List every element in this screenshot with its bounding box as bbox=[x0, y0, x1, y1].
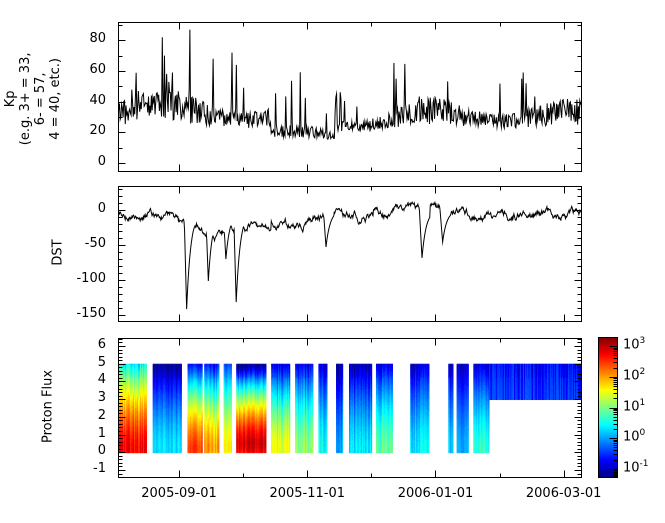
kp-plot-area bbox=[118, 22, 582, 172]
proton-axis-label: Proton Flux bbox=[41, 337, 56, 477]
xtick-label-1: 2005-11-01 bbox=[247, 486, 367, 501]
kp-axis-label: Kp (e.g. 3+ = 33, 6- = 57, 4 = 40, etc.) bbox=[4, 24, 64, 174]
colorbar-tick-2: 101 bbox=[623, 398, 645, 414]
proton-flux-plot-area bbox=[118, 338, 582, 478]
dst-plot-area bbox=[118, 186, 582, 322]
colorbar bbox=[598, 337, 618, 478]
colorbar-tick-4: 103 bbox=[623, 336, 645, 352]
colorbar-tick-0: 10-1 bbox=[623, 459, 649, 475]
xtick-label-2: 2006-01-01 bbox=[375, 486, 495, 501]
colorbar-tick-1: 100 bbox=[623, 428, 645, 444]
colorbar-tick-3: 102 bbox=[623, 367, 645, 383]
dst-axis-label: DST bbox=[51, 193, 66, 313]
xtick-label-3: 2006-03-01 bbox=[504, 486, 624, 501]
xtick-label-0: 2005-09-01 bbox=[119, 486, 239, 501]
space-weather-figure: 020406080Kp (e.g. 3+ = 33, 6- = 57, 4 = … bbox=[0, 0, 665, 523]
